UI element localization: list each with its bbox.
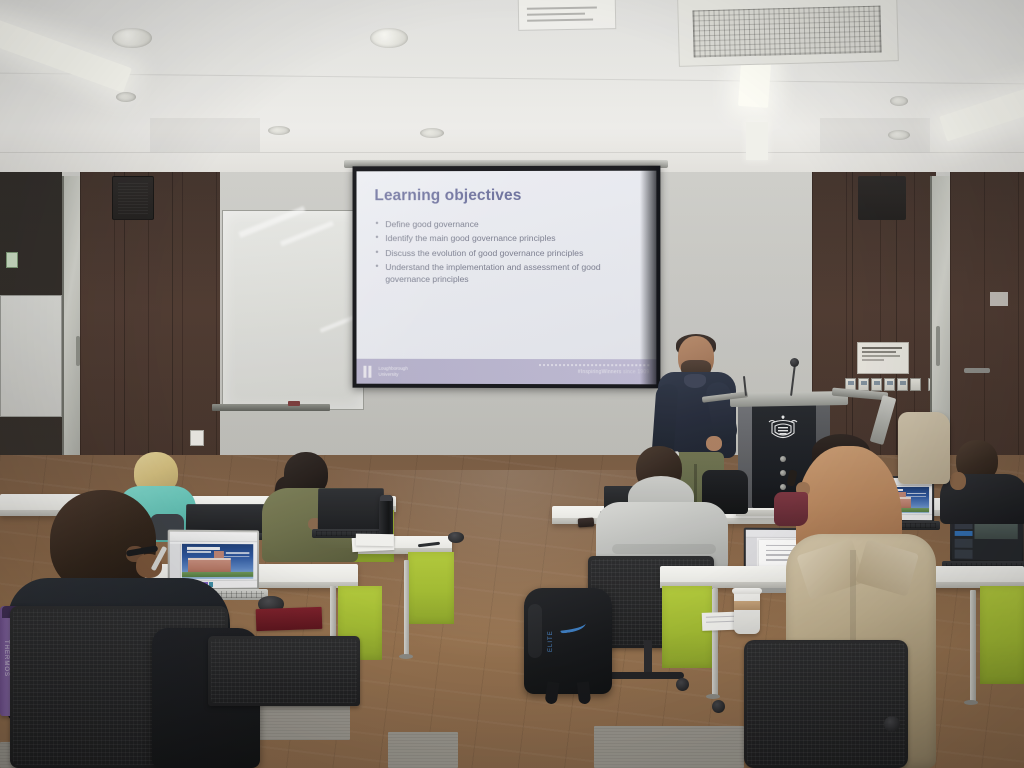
desk-leg-foot bbox=[964, 700, 978, 705]
light-switch[interactable] bbox=[910, 378, 921, 391]
wireless-mouse-olive-desk[interactable] bbox=[448, 532, 464, 543]
slide-bullet: Identify the main good governance princi… bbox=[374, 233, 638, 245]
student-hand bbox=[950, 472, 966, 490]
whiteboard-marker-tray bbox=[212, 404, 330, 411]
classroom-photo: Learning objectives Define good governan… bbox=[0, 0, 1024, 768]
wall-plate bbox=[990, 292, 1008, 306]
chair-right[interactable] bbox=[744, 640, 908, 768]
ceiling-panel bbox=[820, 118, 930, 152]
exit-sign bbox=[6, 252, 18, 268]
slide-bullet-list: Define good governance Identify the main… bbox=[374, 219, 638, 285]
video-tile bbox=[955, 549, 973, 558]
student-grey-hoodie bbox=[596, 446, 732, 572]
wall-panel-wood-right-far bbox=[950, 172, 1024, 472]
hoodie-pocket-seam bbox=[612, 544, 716, 554]
chair-caster bbox=[712, 700, 725, 713]
presenter-collar bbox=[684, 374, 706, 388]
chair-caster bbox=[884, 716, 900, 732]
ceiling-downlight bbox=[116, 92, 136, 102]
slide-bullet: Understand the implementation and assess… bbox=[374, 262, 638, 285]
ceiling-downlight bbox=[890, 96, 908, 106]
cup-lid bbox=[732, 588, 762, 594]
university-logo: Loughborough University bbox=[363, 365, 407, 377]
light-switch[interactable] bbox=[897, 378, 908, 391]
door-handle[interactable] bbox=[964, 368, 990, 373]
papers-sheet bbox=[356, 534, 394, 547]
slide-bullet: Discuss the evolution of good governance… bbox=[374, 248, 638, 260]
ceiling-downlight bbox=[370, 28, 408, 48]
desk-leg-foot bbox=[399, 654, 413, 659]
ceiling-downlight bbox=[888, 130, 910, 140]
video-tile bbox=[955, 539, 973, 548]
student-right-rear bbox=[940, 440, 1024, 518]
footer-dotted-rule bbox=[539, 364, 649, 366]
chair-mesh bbox=[747, 643, 905, 765]
backpack-strap bbox=[577, 681, 591, 704]
whiteboard-far-left bbox=[0, 295, 62, 417]
logo-mark-icon bbox=[363, 365, 375, 377]
ceiling-seam bbox=[0, 73, 1024, 85]
coffee-cup[interactable] bbox=[734, 592, 760, 634]
logo-line-2: University bbox=[378, 371, 407, 376]
slide-title: Learning objectives bbox=[374, 187, 638, 205]
desk-green-panel bbox=[980, 586, 1024, 684]
wall-outlet-plate bbox=[190, 430, 204, 446]
microphone-head bbox=[790, 358, 799, 367]
nike-backpack[interactable]: ELITE bbox=[524, 588, 612, 694]
chair-caster bbox=[676, 678, 689, 691]
ceiling-light-strip bbox=[939, 77, 1024, 142]
thermos-lid bbox=[380, 495, 392, 501]
wall-speaker-left bbox=[112, 176, 154, 220]
light-switch[interactable] bbox=[871, 378, 882, 391]
desk-leg-foot bbox=[706, 694, 720, 699]
red-notebook[interactable] bbox=[256, 607, 323, 631]
backpack-brand-text: ELITE bbox=[548, 630, 554, 652]
floor-mat bbox=[594, 726, 744, 768]
ceiling bbox=[0, 0, 1024, 178]
air-conditioning-vent bbox=[677, 0, 899, 67]
wall-speaker-right bbox=[858, 176, 906, 220]
chair-base bbox=[608, 672, 684, 679]
light-switch[interactable] bbox=[884, 378, 895, 391]
door-handle[interactable] bbox=[936, 326, 940, 366]
cup-sleeve bbox=[734, 601, 760, 610]
desk-green-panel bbox=[408, 552, 454, 624]
ceiling-downlight bbox=[268, 126, 290, 135]
papers-olive-desk[interactable] bbox=[352, 536, 395, 552]
room-notice-sign bbox=[857, 342, 909, 374]
desk-leg bbox=[970, 590, 976, 702]
slide-bullet: Define good governance bbox=[374, 219, 638, 231]
nike-swoosh-icon bbox=[559, 620, 586, 634]
video-tile-active bbox=[955, 531, 973, 536]
ceiling-panel bbox=[150, 118, 260, 152]
ceiling-sign bbox=[518, 0, 617, 31]
chair-mesh bbox=[211, 639, 357, 703]
slide-footer: Loughborough University #InspiringWinner… bbox=[357, 359, 657, 385]
ceiling-seam bbox=[0, 152, 1024, 153]
ac-grille bbox=[692, 6, 881, 58]
ceiling-downlight bbox=[112, 28, 152, 48]
whiteboard bbox=[222, 210, 364, 410]
ceiling-light-strip bbox=[0, 17, 132, 93]
ceiling-light-strip bbox=[746, 122, 768, 160]
laptop-lid bbox=[318, 488, 384, 530]
whiteboard-marker[interactable] bbox=[288, 401, 300, 406]
glass-door-left[interactable] bbox=[62, 176, 82, 462]
slide-hashtag: #InspiringWinners since 1909 bbox=[578, 369, 649, 375]
speaker-grille bbox=[118, 182, 148, 214]
logo-text: Loughborough University bbox=[378, 366, 407, 377]
slide-body: Learning objectives Define good governan… bbox=[357, 171, 657, 360]
projection-screen: Learning objectives Define good governan… bbox=[353, 166, 661, 389]
presentation-slide: Learning objectives Define good governan… bbox=[357, 171, 657, 385]
thermos-brand-text: THERMOS bbox=[3, 640, 9, 677]
desk-leg bbox=[404, 560, 409, 656]
hashtag-text: #InspiringWinners bbox=[578, 369, 622, 375]
chair-mid-left[interactable] bbox=[208, 636, 360, 706]
student-scarf bbox=[774, 492, 808, 526]
desk-leg bbox=[712, 588, 718, 696]
logo-line-1: Loughborough bbox=[378, 366, 407, 371]
floor-mat bbox=[388, 732, 458, 768]
smartphone-center-desk[interactable] bbox=[578, 517, 595, 527]
ceiling-downlight bbox=[420, 128, 444, 138]
backpack-side-pocket bbox=[528, 604, 542, 658]
